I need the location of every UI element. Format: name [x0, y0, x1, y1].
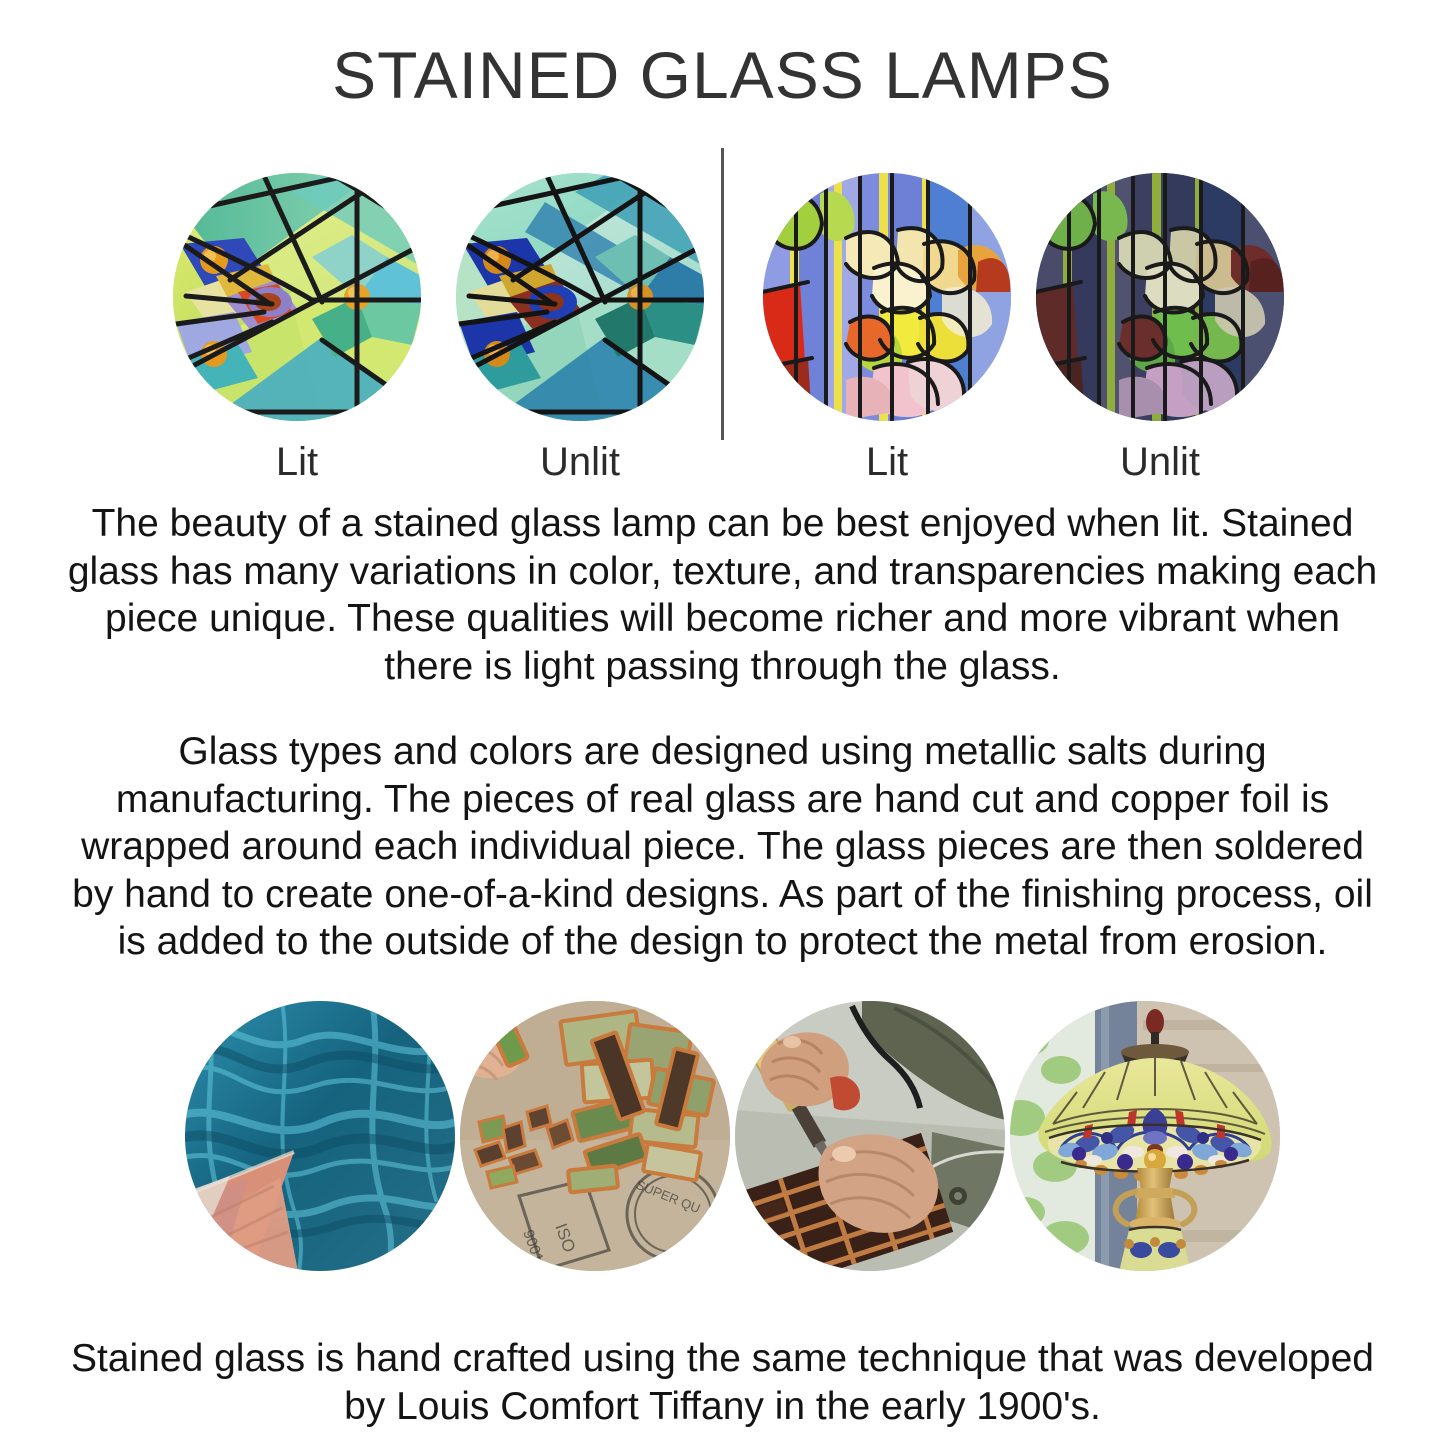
infographic-page: STAINED GLASS LAMPS [0, 0, 1445, 1445]
swatch-caption-unlit-floral: Unlit [1035, 440, 1285, 484]
page-title: STAINED GLASS LAMPS [0, 42, 1445, 108]
soldering-iron-photo [734, 1000, 1006, 1272]
finished-tiffany-lamp-photo [1009, 1000, 1281, 1272]
stained-glass-swatch-lit-geometric [172, 172, 422, 422]
blue-marbled-glass-sheet-photo [184, 1000, 456, 1272]
copper-foiled-glass-pieces-photo: SUPER QU 9001:20 ISO [459, 1000, 731, 1272]
swatch-caption-lit-geometric: Lit [172, 440, 422, 484]
stained-glass-swatch-lit-floral [762, 172, 1012, 422]
stained-glass-swatch-unlit-geometric [455, 172, 705, 422]
stained-glass-swatch-unlit-floral [1035, 172, 1285, 422]
swatch-caption-unlit-geometric: Unlit [455, 440, 705, 484]
process-photo-row: SUPER QU 9001:20 ISO [0, 1000, 1445, 1280]
footer-caption: Stained glass is hand crafted using the … [60, 1335, 1385, 1430]
group-divider [721, 148, 724, 440]
swatch-caption-lit-floral: Lit [762, 440, 1012, 484]
lit-unlit-comparison-row: Lit Unlit Lit Unlit [0, 168, 1445, 488]
process-paragraph: Glass types and colors are designed usin… [60, 728, 1385, 966]
intro-paragraph: The beauty of a stained glass lamp can b… [60, 500, 1385, 690]
